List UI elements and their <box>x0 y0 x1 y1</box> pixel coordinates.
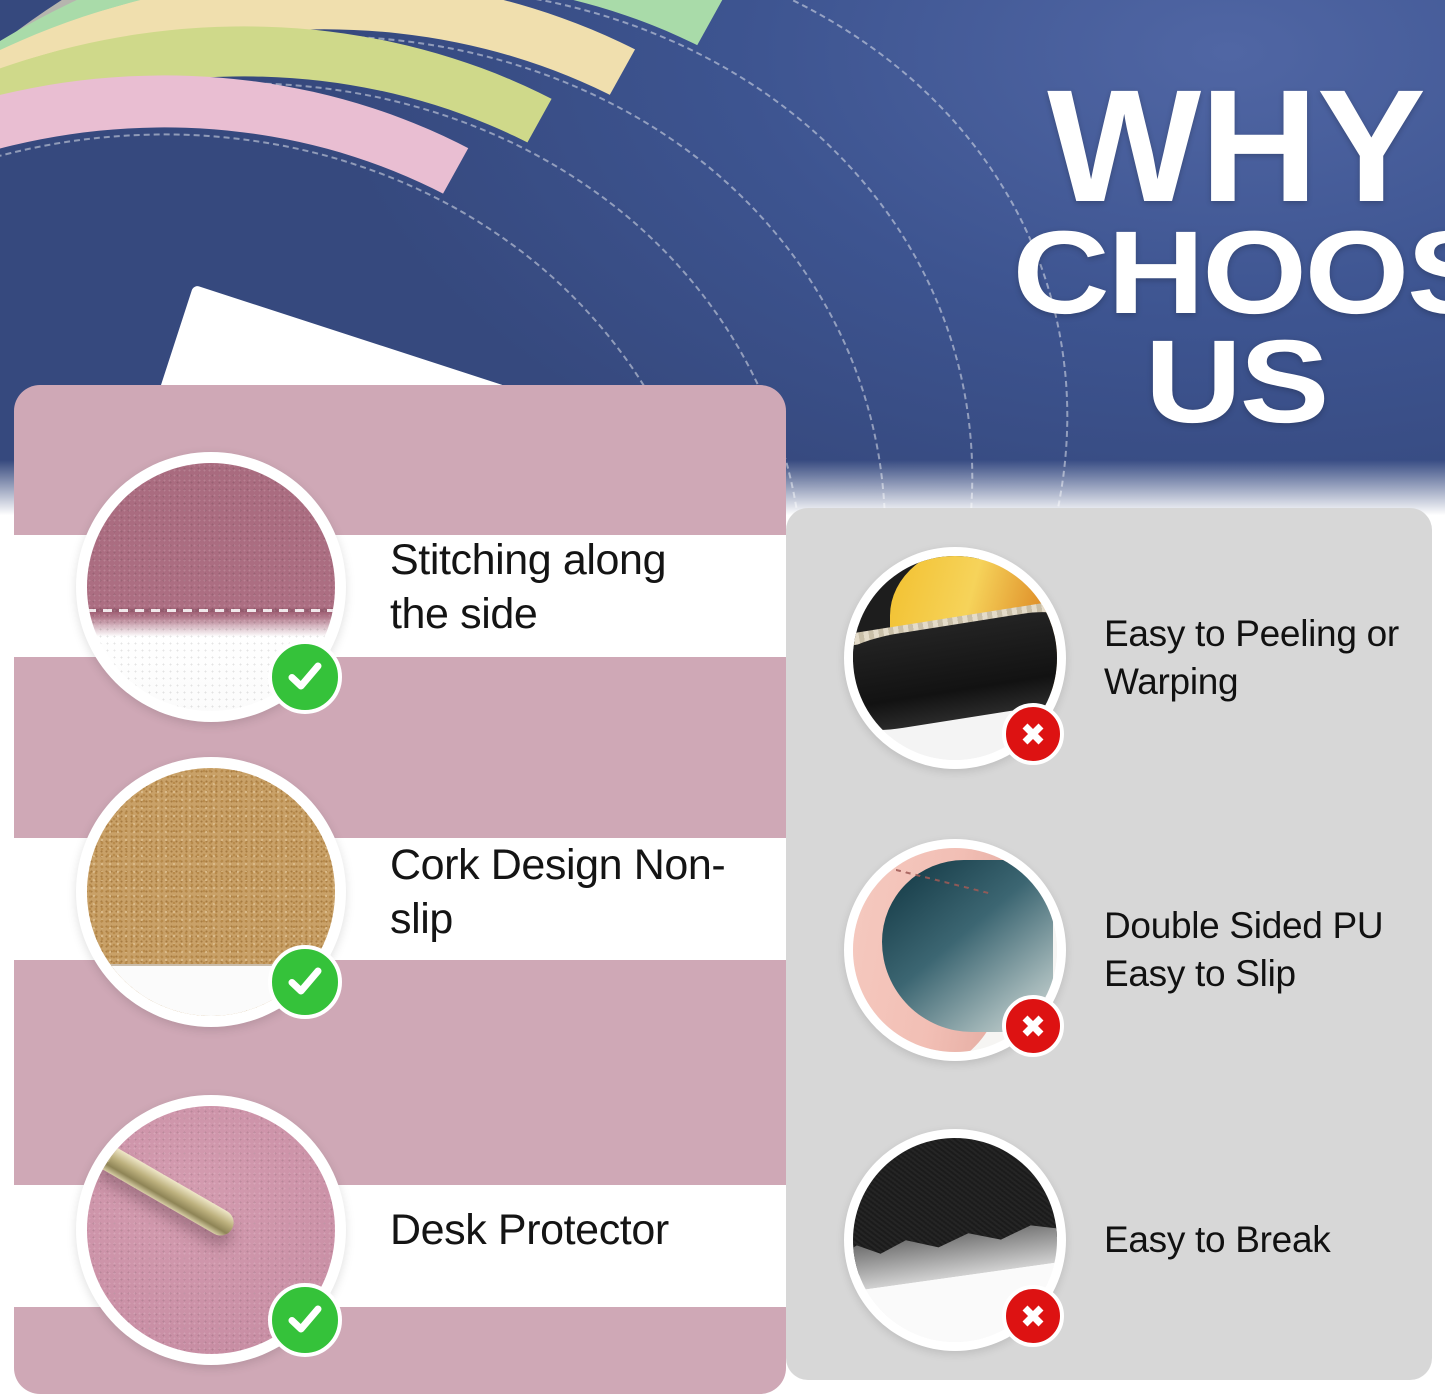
cons-item-3: Easy to Break <box>786 1120 1432 1360</box>
cons-label-3: Easy to Break <box>1104 1216 1330 1264</box>
check-icon <box>268 1283 342 1357</box>
pros-item-3: Desk Protector <box>14 1085 786 1375</box>
pros-thumbnail-3 <box>76 1095 346 1365</box>
cons-thumbnail-1 <box>844 547 1066 769</box>
pros-thumbnail-1 <box>76 452 346 722</box>
infographic-root: WHY CHOOSE US Stitching along the side <box>0 0 1445 1394</box>
pros-thumbnail-2 <box>76 757 346 1027</box>
pros-item-1: Stitching along the side <box>14 442 786 732</box>
title-line-1: WHY <box>1036 72 1436 219</box>
cross-icon <box>1002 995 1064 1057</box>
check-icon <box>268 640 342 714</box>
pros-panel: Stitching along the side Cork Design Non… <box>14 385 786 1394</box>
check-icon <box>268 945 342 1019</box>
pros-label-3: Desk Protector <box>390 1203 669 1257</box>
cross-icon <box>1002 1285 1064 1347</box>
cons-panel: Easy to Peeling or Warping Doubl <box>786 508 1432 1380</box>
cons-item-1: Easy to Peeling or Warping <box>786 538 1432 778</box>
cons-thumbnail-3 <box>844 1129 1066 1351</box>
page-title: WHY CHOOSE US <box>1040 72 1432 436</box>
cons-label-1: Easy to Peeling or Warping <box>1104 610 1424 706</box>
cross-icon <box>1002 703 1064 765</box>
cons-thumbnail-2 <box>844 839 1066 1061</box>
cons-label-2: Double Sided PU Easy to Slip <box>1104 902 1424 998</box>
pros-label-2: Cork Design Non-slip <box>390 838 730 946</box>
pros-label-1: Stitching along the side <box>390 533 730 641</box>
title-line-2: CHOOSE US <box>1013 219 1445 436</box>
cons-item-2: Double Sided PU Easy to Slip <box>786 830 1432 1070</box>
pros-item-2: Cork Design Non-slip <box>14 747 786 1037</box>
